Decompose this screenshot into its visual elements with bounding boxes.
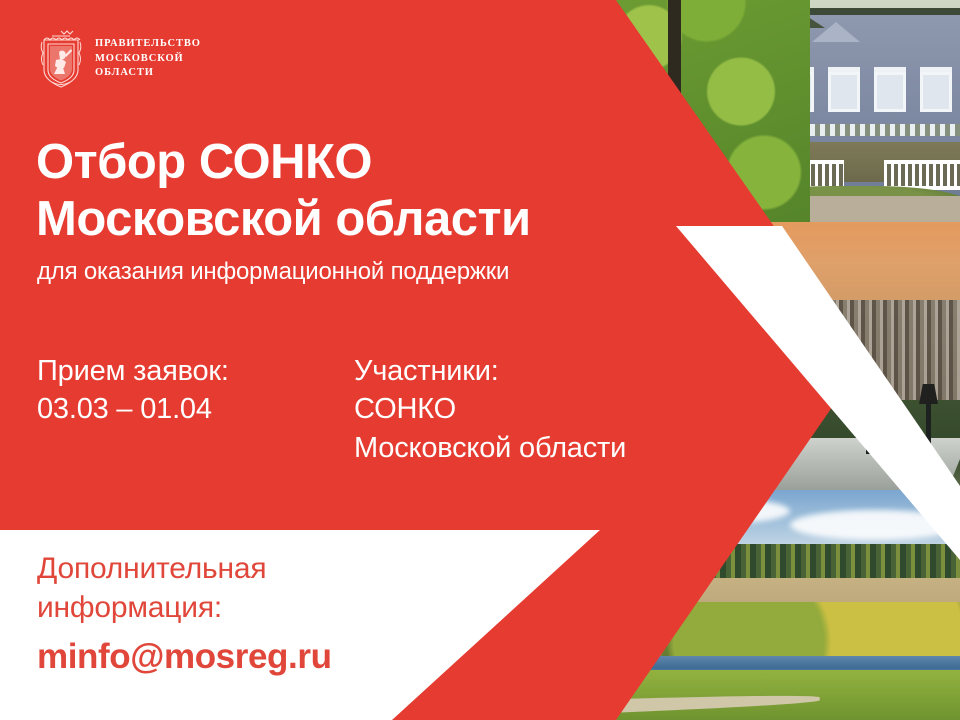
- banner-content: ПРАВИТЕЛЬСТВО МОСКОВСКОЙ ОБЛАСТИ Отбор С…: [0, 0, 960, 720]
- application-period-value: 03.03 – 01.04: [37, 390, 229, 428]
- page-subtitle: для оказания информационной поддержки: [37, 257, 509, 287]
- page-title: Отбор СОНКО Московской области: [36, 134, 531, 248]
- participants-value: СОНКО Московской области: [354, 390, 626, 467]
- moscow-oblast-coat-of-arms-icon: [38, 28, 84, 90]
- logo-line-3: ОБЛАСТИ: [95, 66, 201, 80]
- promo-banner: ПРАВИТЕЛЬСТВО МОСКОВСКОЙ ОБЛАСТИ Отбор С…: [0, 0, 960, 720]
- application-period-label: Прием заявок:: [37, 352, 229, 390]
- application-period-block: Прием заявок: 03.03 – 01.04: [37, 352, 229, 429]
- contact-email[interactable]: minfo@mosreg.ru: [37, 637, 332, 677]
- participants-block: Участники: СОНКО Московской области: [354, 352, 626, 467]
- logo-line-2: МОСКОВСКОЙ: [95, 52, 201, 66]
- additional-info-label: Дополнительная информация:: [37, 549, 266, 627]
- participants-label: Участники:: [354, 352, 626, 390]
- logo-line-1: ПРАВИТЕЛЬСТВО: [95, 37, 201, 51]
- government-logo: ПРАВИТЕЛЬСТВО МОСКОВСКОЙ ОБЛАСТИ: [38, 28, 201, 90]
- government-logo-text: ПРАВИТЕЛЬСТВО МОСКОВСКОЙ ОБЛАСТИ: [95, 37, 201, 80]
